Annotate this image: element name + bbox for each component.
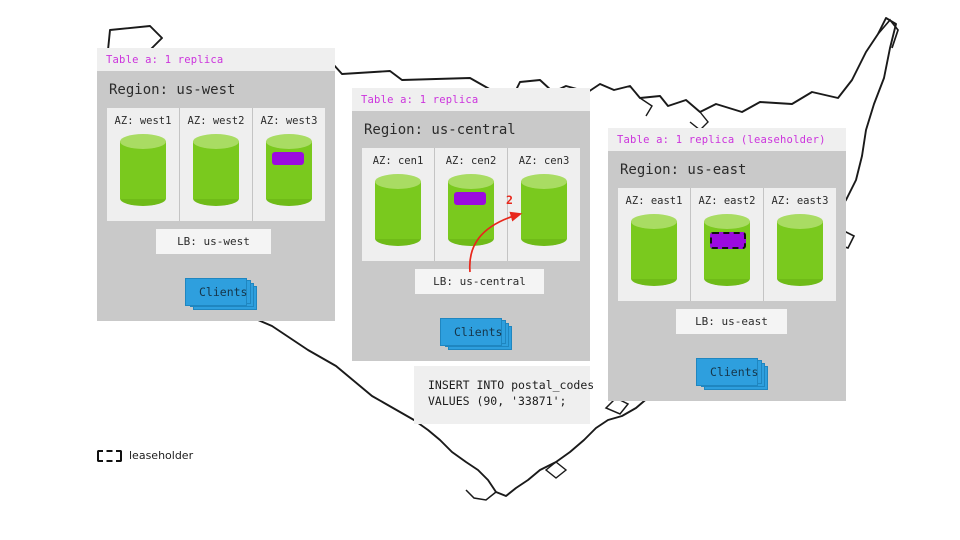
az-cell-cen1[interactable]: AZ: cen1 xyxy=(362,148,434,261)
region-name-label: Region: us-east xyxy=(620,162,836,178)
az-label: AZ: cen2 xyxy=(446,155,497,167)
az-row-us-central: AZ: cen1 AZ: cen2 xyxy=(362,148,580,261)
node-cylinder-west2[interactable] xyxy=(193,134,239,206)
table-replica-title: Table a: 1 replica xyxy=(106,54,326,66)
cylinder-top xyxy=(120,134,166,149)
load-balancer-us-central[interactable]: LB: us-central xyxy=(415,269,544,294)
az-label: AZ: cen1 xyxy=(373,155,424,167)
cylinder-body xyxy=(521,181,567,239)
cylinder-body xyxy=(448,181,494,239)
az-label: AZ: east2 xyxy=(699,195,756,207)
cylinder-body xyxy=(120,141,166,199)
region-panel-us-east: Table a: 1 replica (leaseholder) Region:… xyxy=(608,128,846,401)
az-cell-cen3[interactable]: AZ: cen3 xyxy=(507,148,580,261)
diagram-canvas: Table a: 1 replica Region: us-west AZ: w… xyxy=(0,0,960,540)
az-row-us-east: AZ: east1 AZ: east2 xyxy=(618,188,836,301)
cylinder-body xyxy=(266,141,312,199)
cylinder-top xyxy=(521,174,567,189)
az-label: AZ: west3 xyxy=(261,115,318,127)
az-label: AZ: west1 xyxy=(115,115,172,127)
az-label: AZ: east3 xyxy=(772,195,829,207)
cylinder-body xyxy=(375,181,421,239)
legend-label: leaseholder xyxy=(129,449,193,462)
cylinder-body xyxy=(704,221,750,279)
az-cell-west1[interactable]: AZ: west1 xyxy=(107,108,179,221)
cylinder-top xyxy=(266,134,312,149)
sql-line-1: INSERT INTO postal_codes xyxy=(428,378,576,394)
region-panel-us-central: Table a: 1 replica Region: us-central AZ… xyxy=(352,88,590,361)
cylinder-top xyxy=(777,214,823,229)
sql-statement-box: INSERT INTO postal_codes VALUES (90, '33… xyxy=(414,366,590,424)
az-label: AZ: cen3 xyxy=(519,155,570,167)
sql-line-2: VALUES (90, '33871'; xyxy=(428,394,576,410)
table-replica-title: Table a: 1 replica (leaseholder) xyxy=(617,134,837,146)
step-number-badge: 2 xyxy=(506,193,513,207)
cylinder-top xyxy=(375,174,421,189)
node-cylinder-west1[interactable] xyxy=(120,134,166,206)
lb-label: LB: us-west xyxy=(177,235,250,248)
region-name-label: Region: us-central xyxy=(364,122,580,138)
az-label: AZ: west2 xyxy=(188,115,245,127)
az-row-us-west: AZ: west1 AZ: west2 AZ xyxy=(107,108,325,221)
legend-leaseholder: leaseholder xyxy=(97,449,193,462)
load-balancer-us-west[interactable]: LB: us-west xyxy=(156,229,271,254)
node-cylinder-east3[interactable] xyxy=(777,214,823,286)
az-cell-east3[interactable]: AZ: east3 xyxy=(763,188,836,301)
clients-stack-us-west[interactable]: Clients xyxy=(185,278,257,308)
node-cylinder-cen3[interactable] xyxy=(521,174,567,246)
lb-label: LB: us-east xyxy=(695,315,768,328)
region-name-label: Region: us-west xyxy=(109,82,325,98)
node-cylinder-east2[interactable] xyxy=(704,214,750,286)
panel-title-band-us-east: Table a: 1 replica (leaseholder) xyxy=(608,128,846,151)
cylinder-top xyxy=(704,214,750,229)
panel-title-band-us-central: Table a: 1 replica xyxy=(352,88,590,111)
cylinder-body xyxy=(777,221,823,279)
clients-stack-us-east[interactable]: Clients xyxy=(696,358,768,388)
clients-button[interactable]: Clients xyxy=(440,318,502,346)
node-cylinder-west3[interactable] xyxy=(266,134,312,206)
lb-label: LB: us-central xyxy=(433,275,526,288)
table-replica-title: Table a: 1 replica xyxy=(361,94,581,106)
dashed-rect-icon xyxy=(97,450,122,462)
clients-button[interactable]: Clients xyxy=(696,358,758,386)
node-cylinder-east1[interactable] xyxy=(631,214,677,286)
replica-block-west3[interactable] xyxy=(272,152,304,165)
az-label: AZ: east1 xyxy=(626,195,683,207)
clients-stack-us-central[interactable]: Clients xyxy=(440,318,512,348)
region-panel-us-west: Table a: 1 replica Region: us-west AZ: w… xyxy=(97,48,335,321)
az-cell-east2[interactable]: AZ: east2 xyxy=(690,188,763,301)
cylinder-top xyxy=(448,174,494,189)
cylinder-top xyxy=(193,134,239,149)
node-cylinder-cen2[interactable] xyxy=(448,174,494,246)
replica-block-east2-leaseholder[interactable] xyxy=(710,232,746,249)
clients-button[interactable]: Clients xyxy=(185,278,247,306)
load-balancer-us-east[interactable]: LB: us-east xyxy=(676,309,787,334)
replica-block-cen2[interactable] xyxy=(454,192,486,205)
panel-title-band-us-west: Table a: 1 replica xyxy=(97,48,335,71)
az-cell-west2[interactable]: AZ: west2 xyxy=(179,108,252,221)
cylinder-body xyxy=(193,141,239,199)
az-cell-east1[interactable]: AZ: east1 xyxy=(618,188,690,301)
az-cell-west3[interactable]: AZ: west3 xyxy=(252,108,325,221)
node-cylinder-cen1[interactable] xyxy=(375,174,421,246)
az-cell-cen2[interactable]: AZ: cen2 xyxy=(434,148,507,261)
cylinder-body xyxy=(631,221,677,279)
cylinder-top xyxy=(631,214,677,229)
